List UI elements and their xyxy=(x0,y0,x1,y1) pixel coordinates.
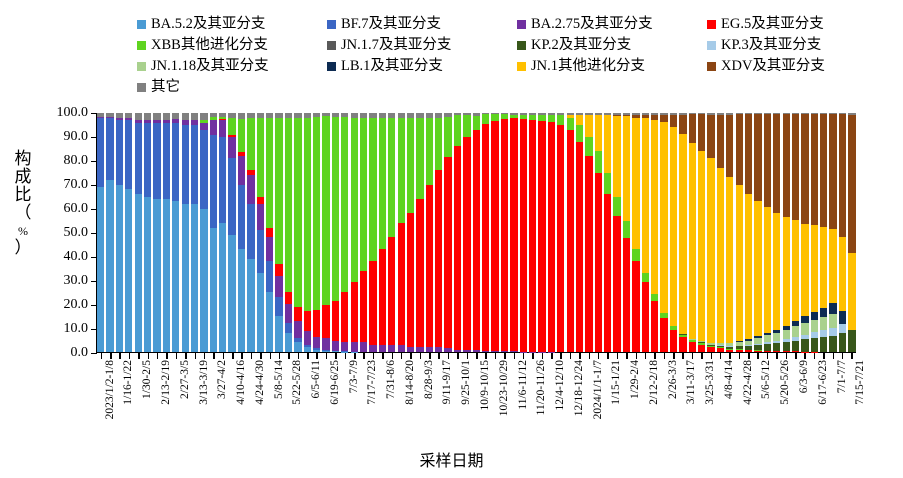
stacked-bar xyxy=(501,113,508,352)
bar-segment-eg-5 xyxy=(444,157,451,348)
bar-segment-ba-2-75 xyxy=(275,276,282,298)
bar-segment-xbb xyxy=(454,115,461,146)
x-axis-tick-label: 1/15-1/21 xyxy=(611,360,623,405)
bar-segment-jn-1 xyxy=(801,224,808,317)
bar-segment-xbb xyxy=(304,118,311,312)
stacked-bar xyxy=(848,113,855,352)
bar-segment-ba-5-2 xyxy=(182,204,189,352)
bar-segment-eg-5 xyxy=(613,216,620,352)
bar-segment-eg-5 xyxy=(604,194,611,352)
x-axis-tickmark xyxy=(645,353,647,359)
bar-segment-bf-7 xyxy=(228,158,235,234)
bar-segment-xdv xyxy=(660,115,667,122)
bar-segment-ba-2-75 xyxy=(416,347,423,352)
bar-segment-eg-5 xyxy=(557,125,564,352)
bar-segment-jn-1-18 xyxy=(829,314,836,328)
bar-segment-eg-5 xyxy=(576,142,583,352)
stacked-bar xyxy=(191,113,198,352)
stacked-bar xyxy=(435,113,442,352)
bar-segment-jn-1 xyxy=(660,122,667,313)
bar-segment-xbb xyxy=(238,119,245,152)
stacked-bar xyxy=(125,113,132,352)
x-axis-tickmark xyxy=(316,353,318,359)
stacked-bar xyxy=(623,113,630,352)
bar-segment-ba-5-2 xyxy=(322,351,329,352)
x-axis-tickmark xyxy=(589,353,591,359)
bar-segment-xbb xyxy=(576,125,583,142)
x-axis-tickmark xyxy=(101,353,103,359)
x-axis-tickmark xyxy=(354,353,356,359)
bar-segment-eg-5 xyxy=(538,121,545,352)
stacked-bar xyxy=(97,113,104,352)
bar-segment-ba-2-75 xyxy=(426,347,433,352)
stacked-bar xyxy=(839,113,846,352)
y-axis-tick-label: 0.0 xyxy=(71,345,89,361)
bar-segment-xbb xyxy=(407,118,414,214)
y-axis-tick-labels: 100.090.080.070.060.050.040.030.020.010.… xyxy=(42,108,92,353)
stacked-bar xyxy=(210,113,217,352)
bar-segment-xbb xyxy=(548,115,555,122)
stacked-bar xyxy=(369,113,376,352)
x-axis-tickmark xyxy=(110,353,112,359)
x-axis-tick-label: 1/16-1/22 xyxy=(123,360,135,405)
x-axis-tick-label: 6/3-6/9 xyxy=(799,360,811,393)
bar-segment-eg-5 xyxy=(745,350,752,352)
stacked-bar xyxy=(801,113,808,352)
bar-segment-ba-2-75 xyxy=(285,304,292,323)
bar-segment-ba-2-75 xyxy=(200,123,207,130)
x-axis-tickmark xyxy=(270,353,272,359)
bar-segment-jn-1 xyxy=(773,213,780,330)
y-axis-title-unit: % xyxy=(18,225,28,238)
bar-segment-ba-2-75 xyxy=(341,342,348,352)
bar-segment-eg-5 xyxy=(360,271,367,343)
bar-segment-kp-2 xyxy=(829,336,836,352)
bar-segment-xdv xyxy=(820,114,827,227)
x-axis-tickmark xyxy=(757,353,759,359)
stacked-bar xyxy=(548,113,555,352)
bar-segment-xbb xyxy=(491,114,498,121)
x-axis-tickmark xyxy=(457,353,459,359)
bar-segment-lb-1 xyxy=(839,311,846,324)
bar-segment-eg-5 xyxy=(754,351,761,352)
bar-segment-eg-5 xyxy=(529,120,536,352)
stacked-bar xyxy=(416,113,423,352)
x-axis-tickmark xyxy=(307,353,309,359)
x-axis-tick-label: 5/8-5/14 xyxy=(274,360,286,399)
bar-segment-ba-5-2 xyxy=(191,204,198,352)
bar-segment-ba-2-75 xyxy=(491,351,498,352)
bar-segment-eg-5 xyxy=(379,249,386,345)
bar-segment-bf-7 xyxy=(210,135,217,228)
bar-segment-eg-5 xyxy=(407,213,414,347)
stacked-bar xyxy=(585,113,592,352)
bar-segment-eg-5 xyxy=(726,350,733,352)
y-axis-tickmark xyxy=(91,305,97,306)
x-axis-tickmark xyxy=(654,353,656,359)
x-axis-tickmark xyxy=(701,353,703,359)
bar-segment-ba-5-2 xyxy=(97,187,104,352)
bar-segment-xdv xyxy=(736,114,743,185)
plot-area xyxy=(96,113,856,353)
stacked-bar xyxy=(482,113,489,352)
bar-segment-ba-5-2 xyxy=(116,185,123,352)
stacked-bar xyxy=(332,113,339,352)
bar-segment-xdv xyxy=(670,115,677,127)
bar-segment-bf-7 xyxy=(153,123,160,199)
bar-segment-xdv xyxy=(764,114,771,206)
bar-segment-ba-5-2 xyxy=(247,259,254,352)
x-axis-tickmark xyxy=(851,353,853,359)
stacked-bar xyxy=(444,113,451,352)
bar-segment-bf-7 xyxy=(144,123,151,197)
x-axis-tickmark xyxy=(542,353,544,359)
x-axis-tick-label: 4/10-4/16 xyxy=(236,360,248,405)
bar-segment-jn-1 xyxy=(707,158,714,343)
stacked-bar xyxy=(717,113,724,352)
bar-segment-eg-5 xyxy=(463,137,470,350)
y-axis-tickmark xyxy=(91,257,97,258)
x-axis-tickmark xyxy=(448,353,450,359)
x-axis-tickmark xyxy=(795,353,797,359)
x-axis-tick-label: 11/20-11/26 xyxy=(536,360,548,415)
bar-segment-eg-5 xyxy=(707,347,714,352)
bar-segment-ba-5-2 xyxy=(313,350,320,352)
bar-segment-ba-5-2 xyxy=(172,201,179,352)
stacked-bar xyxy=(660,113,667,352)
bar-segment-jn-1 xyxy=(848,253,855,330)
x-axis-tickmark xyxy=(476,353,478,359)
stacked-bar xyxy=(820,113,827,352)
bar-segment-ba-5-2 xyxy=(294,342,301,352)
bar-segment-other xyxy=(153,113,160,120)
bar-segment-xdv xyxy=(848,115,855,253)
bar-segment-ba-2-75 xyxy=(482,351,489,352)
x-axis-tick-label: 6/5-6/11 xyxy=(311,360,323,399)
y-axis-tickmark xyxy=(91,209,97,210)
bar-segment-ba-5-2 xyxy=(210,228,217,352)
bar-segment-xbb xyxy=(567,118,574,130)
x-axis-tick-label: 2/12-2/18 xyxy=(649,360,661,405)
stacked-bar xyxy=(144,113,151,352)
bar-segment-eg-5 xyxy=(764,351,771,352)
bar-segment-bf-7 xyxy=(172,123,179,202)
bar-segment-ba-5-2 xyxy=(266,292,273,352)
x-axis-tickmark xyxy=(335,353,337,359)
bar-segment-bf-7 xyxy=(285,323,292,333)
x-axis-tickmark xyxy=(664,353,666,359)
bar-segment-xbb xyxy=(482,114,489,124)
x-axis-tickmark xyxy=(682,353,684,359)
bar-segment-eg-5 xyxy=(491,121,498,350)
stacked-bar xyxy=(454,113,461,352)
stacked-bar xyxy=(520,113,527,352)
bar-segment-xbb xyxy=(463,115,470,137)
bar-segment-xbb xyxy=(341,117,348,291)
bar-segment-ba-2-75 xyxy=(210,120,217,134)
stacked-bars-container xyxy=(97,113,856,352)
bar-segment-ba-5-2 xyxy=(125,189,132,352)
stacked-bar xyxy=(557,113,564,352)
bar-segment-bf-7 xyxy=(125,120,132,189)
bar-segment-eg-5 xyxy=(717,348,724,352)
bar-segment-ba-5-2 xyxy=(106,180,113,352)
bar-segment-ba-5-2 xyxy=(304,347,311,352)
bar-segment-xdv xyxy=(801,114,808,223)
bar-segment-ba-2-75 xyxy=(510,351,517,352)
bar-segment-ba-2-75 xyxy=(501,351,508,352)
bar-segment-eg-5 xyxy=(520,119,527,352)
y-axis-tickmark xyxy=(91,161,97,162)
bar-segment-bf-7 xyxy=(97,118,104,187)
bar-segment-other xyxy=(191,113,198,120)
bar-segment-eg-5 xyxy=(567,130,574,352)
x-axis-tick-label: 3/13-3/19 xyxy=(199,360,211,405)
bar-segment-xdv xyxy=(792,114,799,220)
bar-segment-xdv xyxy=(811,114,818,225)
bar-segment-eg-5 xyxy=(257,197,264,204)
bar-segment-xbb xyxy=(444,117,451,158)
bar-segment-bf-7 xyxy=(200,130,207,209)
x-axis-tickmark xyxy=(579,353,581,359)
x-axis-tickmark xyxy=(495,353,497,359)
x-axis-tickmark xyxy=(467,353,469,359)
bar-segment-ba-2-75 xyxy=(228,137,235,159)
stacked-bar xyxy=(247,113,254,352)
y-axis-tick-label: 100.0 xyxy=(57,105,89,121)
bar-segment-eg-5 xyxy=(351,282,358,342)
stacked-bar xyxy=(304,113,311,352)
bar-segment-jn-1 xyxy=(829,229,836,303)
bar-segment-xbb xyxy=(632,249,639,261)
bar-segment-xbb xyxy=(257,118,264,197)
bar-segment-xdv xyxy=(689,114,696,143)
y-axis-tick-label: 80.0 xyxy=(64,153,89,169)
stacked-bar xyxy=(773,113,780,352)
bar-segment-xdv xyxy=(839,114,846,236)
x-axis-tickmarks xyxy=(96,353,856,359)
bar-segment-ba-5-2 xyxy=(228,235,235,352)
stacked-bar xyxy=(135,113,142,352)
bar-segment-ba-2-75 xyxy=(219,120,226,137)
bar-segment-ba-5-2 xyxy=(257,273,264,352)
bar-segment-eg-5 xyxy=(454,146,461,349)
bar-segment-bf-7 xyxy=(163,123,170,199)
x-axis-tickmark xyxy=(607,353,609,359)
bar-segment-xdv xyxy=(783,114,790,217)
bar-segment-eg-5 xyxy=(783,351,790,352)
stacked-bar xyxy=(726,113,733,352)
x-axis-tick-label: 7/15-7/21 xyxy=(855,360,867,405)
x-axis-tickmark xyxy=(523,353,525,359)
stacked-bar xyxy=(829,113,836,352)
bar-segment-eg-5 xyxy=(642,282,649,352)
bar-segment-jn-1 xyxy=(736,185,743,341)
bar-segment-xbb xyxy=(642,273,649,283)
bar-segment-eg-5 xyxy=(679,337,686,352)
bar-segment-eg-5 xyxy=(736,350,743,352)
x-axis-tickmark xyxy=(560,353,562,359)
bar-segment-ba-2-75 xyxy=(238,156,245,185)
stacked-bar xyxy=(642,113,649,352)
bar-segment-jn-1 xyxy=(783,217,790,325)
bar-segment-kp-2 xyxy=(848,330,855,352)
x-axis-tick-label: 2023/1/2-1/8 xyxy=(105,360,117,419)
x-axis-tick-label: 3/25-3/31 xyxy=(705,360,717,405)
bar-segment-xbb xyxy=(322,116,329,305)
y-axis-tick-label: 70.0 xyxy=(64,177,89,193)
bar-segment-xbb xyxy=(435,118,442,171)
bar-segment-bf-7 xyxy=(275,297,282,316)
bar-segment-bf-7 xyxy=(106,118,113,180)
stacked-bar xyxy=(153,113,160,352)
x-axis-tickmark xyxy=(692,353,694,359)
x-axis-tickmark xyxy=(767,353,769,359)
x-axis-tick-label: 8/28-9/3 xyxy=(424,360,436,399)
stacked-bar xyxy=(407,113,414,352)
x-axis-tickmark xyxy=(382,353,384,359)
x-axis-tick-label: 5/22-5/28 xyxy=(292,360,304,405)
bar-segment-eg-5 xyxy=(388,237,395,345)
stacked-bar xyxy=(351,113,358,352)
bar-segment-xbb xyxy=(557,115,564,125)
bar-segment-kp-2 xyxy=(820,337,827,352)
x-axis-tick-label: 7/3-7/9 xyxy=(349,360,361,393)
x-axis-title: 采样日期 xyxy=(0,447,903,471)
x-axis-tickmark xyxy=(241,353,243,359)
bar-segment-bf-7 xyxy=(266,261,273,292)
bar-segment-xbb xyxy=(604,173,611,195)
bar-segment-ba-5-2 xyxy=(332,351,339,352)
bar-segment-kp-2 xyxy=(811,338,818,352)
bar-segment-eg-5 xyxy=(792,351,799,352)
bar-segment-jn-1 xyxy=(811,225,818,312)
bar-segment-ba-2-75 xyxy=(454,350,461,352)
bar-segment-jn-1-18 xyxy=(820,317,827,330)
bar-segment-bf-7 xyxy=(257,230,264,273)
stacked-bar xyxy=(106,113,113,352)
x-axis-tickmark xyxy=(636,353,638,359)
bar-segment-jn-1 xyxy=(595,115,602,151)
x-axis-tick-label: 4/8-4/14 xyxy=(724,360,736,399)
bar-segment-eg-5 xyxy=(266,228,273,238)
bar-segment-lb-1 xyxy=(801,316,808,323)
x-axis-tickmark xyxy=(729,353,731,359)
bar-segment-jn-1 xyxy=(698,151,705,342)
x-axis-tickmark xyxy=(119,353,121,359)
bar-segment-ba-2-75 xyxy=(351,342,358,352)
bar-segment-xdv xyxy=(698,114,705,150)
bar-segment-ba-5-2 xyxy=(163,199,170,352)
bar-segment-ba-2-75 xyxy=(388,345,395,352)
bar-segment-jn-1 xyxy=(585,115,592,137)
stacked-bar xyxy=(529,113,536,352)
stacked-bar xyxy=(491,113,498,352)
bar-segment-jn-1 xyxy=(745,194,752,340)
bar-segment-xdv xyxy=(773,114,780,212)
stacked-bar xyxy=(764,113,771,352)
x-axis-tick-label: 12/4-12/10 xyxy=(555,360,567,410)
bar-segment-eg-5 xyxy=(369,261,376,345)
x-axis-tick-label: 7/31-8/6 xyxy=(386,360,398,399)
y-axis-tickmark xyxy=(91,281,97,282)
bar-segment-lb-1 xyxy=(811,312,818,320)
x-axis-tick-label: 1/30-2/5 xyxy=(142,360,154,399)
bar-segment-other xyxy=(200,113,207,120)
stacked-bar xyxy=(632,113,639,352)
bar-segment-ba-2-75 xyxy=(444,348,451,352)
stacked-bar xyxy=(238,113,245,352)
bar-segment-ba-2-75 xyxy=(304,331,311,345)
x-axis-tickmark xyxy=(673,353,675,359)
x-axis-tickmark xyxy=(401,353,403,359)
bar-segment-bf-7 xyxy=(135,123,142,195)
x-axis-tickmark xyxy=(438,353,440,359)
bar-segment-xdv xyxy=(726,115,733,177)
bar-segment-ba-2-75 xyxy=(435,347,442,352)
bar-segment-ba-2-75 xyxy=(332,341,339,351)
x-axis-tickmark xyxy=(532,353,534,359)
stacked-bar xyxy=(473,113,480,352)
x-axis-tick-label: 10/23-10/29 xyxy=(499,360,511,416)
bar-segment-eg-5 xyxy=(304,311,311,330)
x-axis-tickmark xyxy=(288,353,290,359)
bar-segment-jn-1-18 xyxy=(792,326,799,336)
bar-segment-ba-2-75 xyxy=(313,337,320,349)
bar-segment-eg-5 xyxy=(322,305,329,338)
stacked-bar xyxy=(172,113,179,352)
bar-segment-jn-1 xyxy=(717,168,724,343)
bar-segment-xbb xyxy=(416,118,423,199)
bar-segment-jn-1 xyxy=(820,227,827,307)
x-axis-tickmark xyxy=(429,353,431,359)
bar-segment-ba-2-75 xyxy=(398,345,405,352)
stacked-bar xyxy=(567,113,574,352)
stacked-bar xyxy=(811,113,818,352)
x-axis-tick-label: 2/13-2/19 xyxy=(161,360,173,405)
stacked-bar xyxy=(651,113,658,352)
stacked-bar xyxy=(341,113,348,352)
bar-segment-xbb xyxy=(651,294,658,301)
bar-segment-xbb xyxy=(613,197,620,216)
bar-segment-xbb xyxy=(379,118,386,249)
y-axis-tick-label: 30.0 xyxy=(64,273,89,289)
bar-segment-eg-5 xyxy=(435,170,442,347)
bar-segment-xdv xyxy=(679,115,686,134)
bar-segment-bf-7 xyxy=(219,137,226,223)
bar-segment-ba-2-75 xyxy=(247,175,254,204)
x-axis-tickmark xyxy=(195,353,197,359)
stacked-bar xyxy=(182,113,189,352)
y-axis-tick-label: 50.0 xyxy=(64,225,89,241)
bar-segment-kp-2 xyxy=(792,341,799,352)
bar-segment-jn-1-18 xyxy=(773,333,780,341)
bar-segment-eg-5 xyxy=(623,238,630,352)
bar-segment-ba-5-2 xyxy=(144,197,151,352)
bar-segment-eg-5 xyxy=(275,264,282,276)
x-axis-tickmark xyxy=(392,353,394,359)
y-axis-title-unit-wrap: （%） xyxy=(10,204,36,258)
bar-segment-bf-7 xyxy=(116,120,123,185)
bar-segment-xbb xyxy=(313,117,320,311)
x-axis-tickmark xyxy=(213,353,215,359)
bar-segment-xbb xyxy=(294,118,301,307)
bar-segment-eg-5 xyxy=(595,173,602,352)
bar-segment-kp-3 xyxy=(820,330,827,337)
bar-segment-eg-5 xyxy=(294,307,301,321)
bar-segment-eg-5 xyxy=(482,124,489,351)
stacked-bar xyxy=(266,113,273,352)
